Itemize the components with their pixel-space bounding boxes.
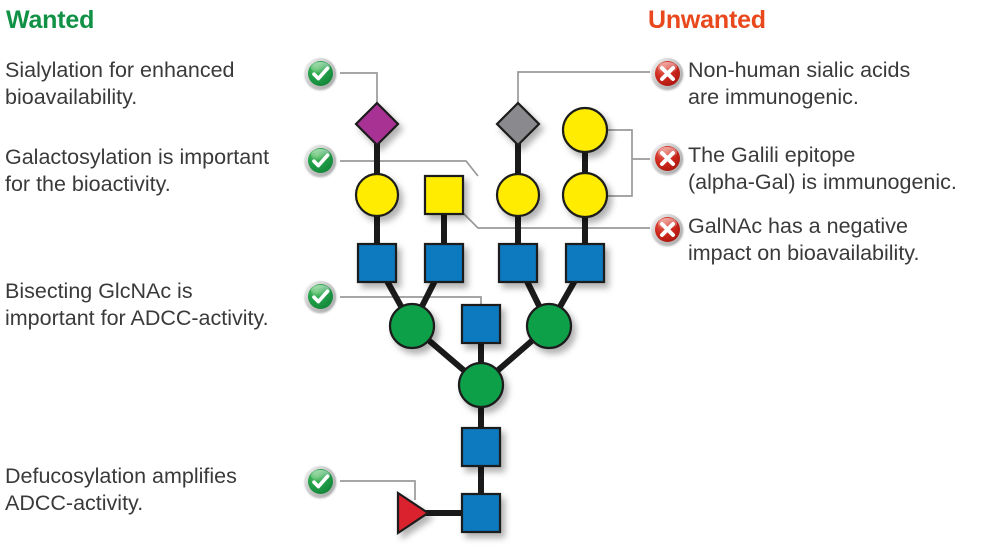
residue-core-mannose (459, 363, 503, 407)
residue-galactose-a4 (563, 173, 607, 217)
residue-core-glcnac-2 (462, 428, 500, 466)
residue-neu5ac (356, 103, 398, 145)
leader-lines (340, 72, 650, 500)
check-glyph (305, 58, 336, 89)
cross-icon (652, 143, 683, 174)
glycan-residues (356, 103, 607, 533)
residue-glcnac-a2 (425, 244, 463, 282)
check-icon (305, 58, 336, 89)
residue-neu5gc (497, 103, 539, 145)
bond-glcnac-a3-man (518, 263, 549, 326)
residue-galactose-a1 (356, 174, 398, 216)
bond-manleft-core (412, 326, 481, 385)
note-bisecting-glcnac: Bisecting GlcNAc is important for ADCC-a… (5, 278, 310, 332)
check-glyph (305, 466, 336, 497)
check-icon (305, 466, 336, 497)
residue-mannose-left (390, 304, 434, 348)
wanted-heading: Wanted (6, 6, 94, 35)
residue-alpha-galactose (563, 108, 607, 152)
residue-glcnac-a1 (358, 244, 396, 282)
cross-icon (652, 58, 683, 89)
note-sialylation: Sialylation for enhanced bioavailability… (5, 57, 305, 111)
leader-sialylation (340, 73, 377, 104)
leader-neu5gc (518, 72, 650, 104)
note-galnac: GalNAc has a negative impact on bioavail… (688, 213, 986, 267)
leader-galnac (462, 212, 650, 228)
bond-glcnac-a2-man (412, 263, 444, 326)
cross-icon (652, 214, 683, 245)
check-icon (305, 281, 336, 312)
check-glyph (305, 281, 336, 312)
glycosidic-bonds (377, 124, 585, 513)
cross-glyph (652, 143, 683, 174)
leader-galactosylation (340, 161, 478, 176)
bond-glcnac-a1-man (377, 263, 412, 326)
note-non-human-sialic-acids: Non-human sialic acids are immunogenic. (688, 57, 986, 111)
unwanted-heading: Unwanted (648, 6, 766, 35)
residue-core-glcnac-1 (462, 494, 500, 532)
bond-glcnac-a4-man (549, 263, 585, 326)
bond-manright-core (481, 326, 549, 385)
leader-galili-bracket (608, 130, 632, 196)
note-galactosylation: Galactosylation is important for the bio… (5, 144, 305, 198)
glycan-infographic: Wanted Unwanted Sialylation for enhanced… (0, 0, 987, 547)
residue-galnac-a2 (425, 176, 463, 214)
note-galili-epitope: The Galili epitope (alpha-Gal) is immuno… (688, 142, 986, 196)
residue-glcnac-a4 (566, 244, 604, 282)
residue-bisecting-glcnac (462, 305, 500, 343)
leader-bisecting (340, 297, 481, 306)
cross-glyph (652, 58, 683, 89)
note-defucosylation: Defucosylation amplifies ADCC-activity. (5, 463, 305, 517)
check-icon (305, 145, 336, 176)
cross-glyph (652, 214, 683, 245)
residue-glcnac-a3 (499, 244, 537, 282)
leader-defucosylation (340, 481, 415, 500)
residue-fucose (398, 493, 428, 533)
residue-galactose-a3 (497, 174, 539, 216)
residue-mannose-right (527, 304, 571, 348)
check-glyph (305, 145, 336, 176)
